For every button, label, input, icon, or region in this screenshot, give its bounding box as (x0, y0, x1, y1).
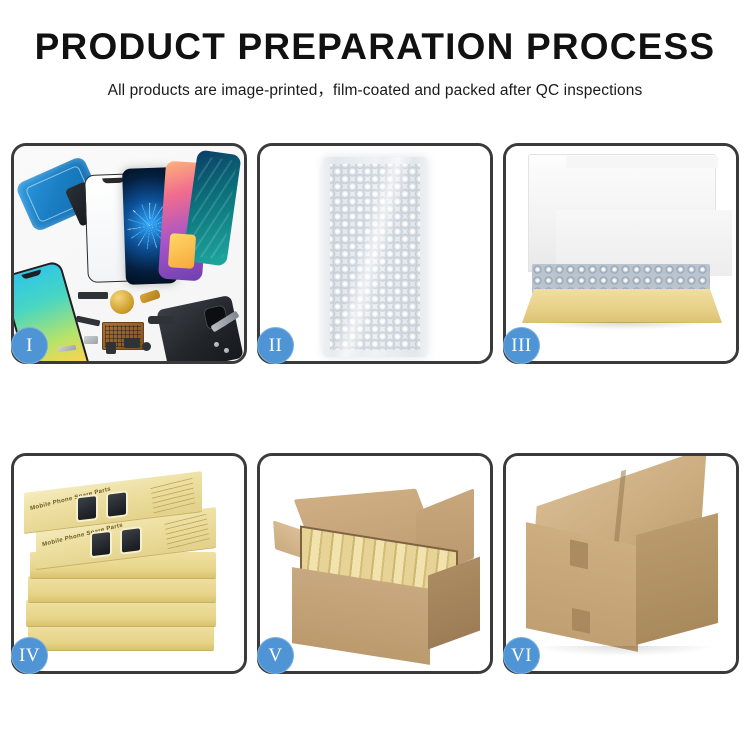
retail-box-layer-5 (26, 600, 216, 626)
retail-box-spec-lines-1 (151, 478, 196, 514)
carton-right-face (636, 513, 718, 645)
spare-part-button (106, 342, 116, 354)
step-panel-1: I (11, 143, 247, 364)
step-panel-2: II (257, 143, 493, 364)
step-panel-3: III (503, 143, 739, 364)
step-image-sealed-carton (506, 456, 736, 671)
spare-part-flex-cable (76, 316, 101, 327)
spare-part-connector (148, 316, 174, 324)
carton-left-face (526, 522, 638, 652)
spare-part-strip (78, 292, 108, 299)
carton-tape-lower (572, 608, 590, 634)
box-front-panel (522, 289, 722, 323)
step-image-bubble-wrap (260, 146, 490, 361)
page-title: PRODUCT PREPARATION PROCESS (0, 28, 750, 65)
gold-speaker-part (110, 290, 134, 314)
step-image-phones-and-parts (14, 146, 244, 361)
carton-tape-upper (570, 539, 588, 569)
box-shadow (532, 322, 712, 330)
retail-box-spec-lines-2 (165, 514, 210, 550)
carton-shadow (536, 646, 712, 656)
step-badge-6: VI (503, 637, 540, 674)
step-badge-3: III (503, 327, 540, 364)
box-lid-tab (566, 156, 718, 168)
step-image-inner-box (506, 146, 736, 361)
page-subtitle: All products are image-printed，film-coat… (0, 78, 750, 100)
phone-yellow-accent (168, 233, 196, 269)
screw-part-a (214, 342, 219, 347)
open-shipping-carton (278, 482, 478, 654)
retail-box-layer-6 (28, 624, 214, 650)
phone-back-housing (156, 295, 244, 361)
product-preparation-infographic: PRODUCT PREPARATION PROCESS All products… (0, 0, 750, 750)
spare-part-gold-clip (139, 289, 161, 304)
retail-box-window-2a (92, 532, 110, 556)
spare-part-vibrator (124, 338, 140, 348)
step-badge-4: IV (11, 637, 48, 674)
step-image-open-carton (260, 456, 490, 671)
bubble-pattern (330, 164, 420, 350)
screw-part-b (224, 348, 229, 353)
step-badge-1: I (11, 327, 48, 364)
spare-part-lens (142, 342, 151, 351)
step-panel-6: VI (503, 453, 739, 674)
step-badge-2: II (257, 327, 294, 364)
sealed-shipping-carton (526, 478, 718, 658)
step-panel-4: Mobile Phone Spare Parts Mobile Phone Sp… (11, 453, 247, 674)
box-lid-open (528, 154, 716, 272)
retail-box-layer-4 (28, 576, 216, 602)
retail-box-window-1a (78, 496, 96, 520)
spare-part-bracket (84, 336, 98, 344)
step-image-retail-box-stack: Mobile Phone Spare Parts Mobile Phone Sp… (14, 456, 244, 671)
retail-box-label-1: Mobile Phone Spare Parts (30, 486, 111, 512)
step-panel-5: V (257, 453, 493, 674)
process-steps-grid: I II III (11, 143, 740, 674)
header: PRODUCT PREPARATION PROCESS All products… (0, 0, 750, 100)
step-badge-5: V (257, 637, 294, 674)
retail-box-stack: Mobile Phone Spare Parts Mobile Phone Sp… (22, 474, 240, 664)
bubble-wrapped-product (323, 157, 427, 357)
retail-box-window-1b (108, 492, 126, 516)
retail-box-window-2b (122, 528, 140, 552)
